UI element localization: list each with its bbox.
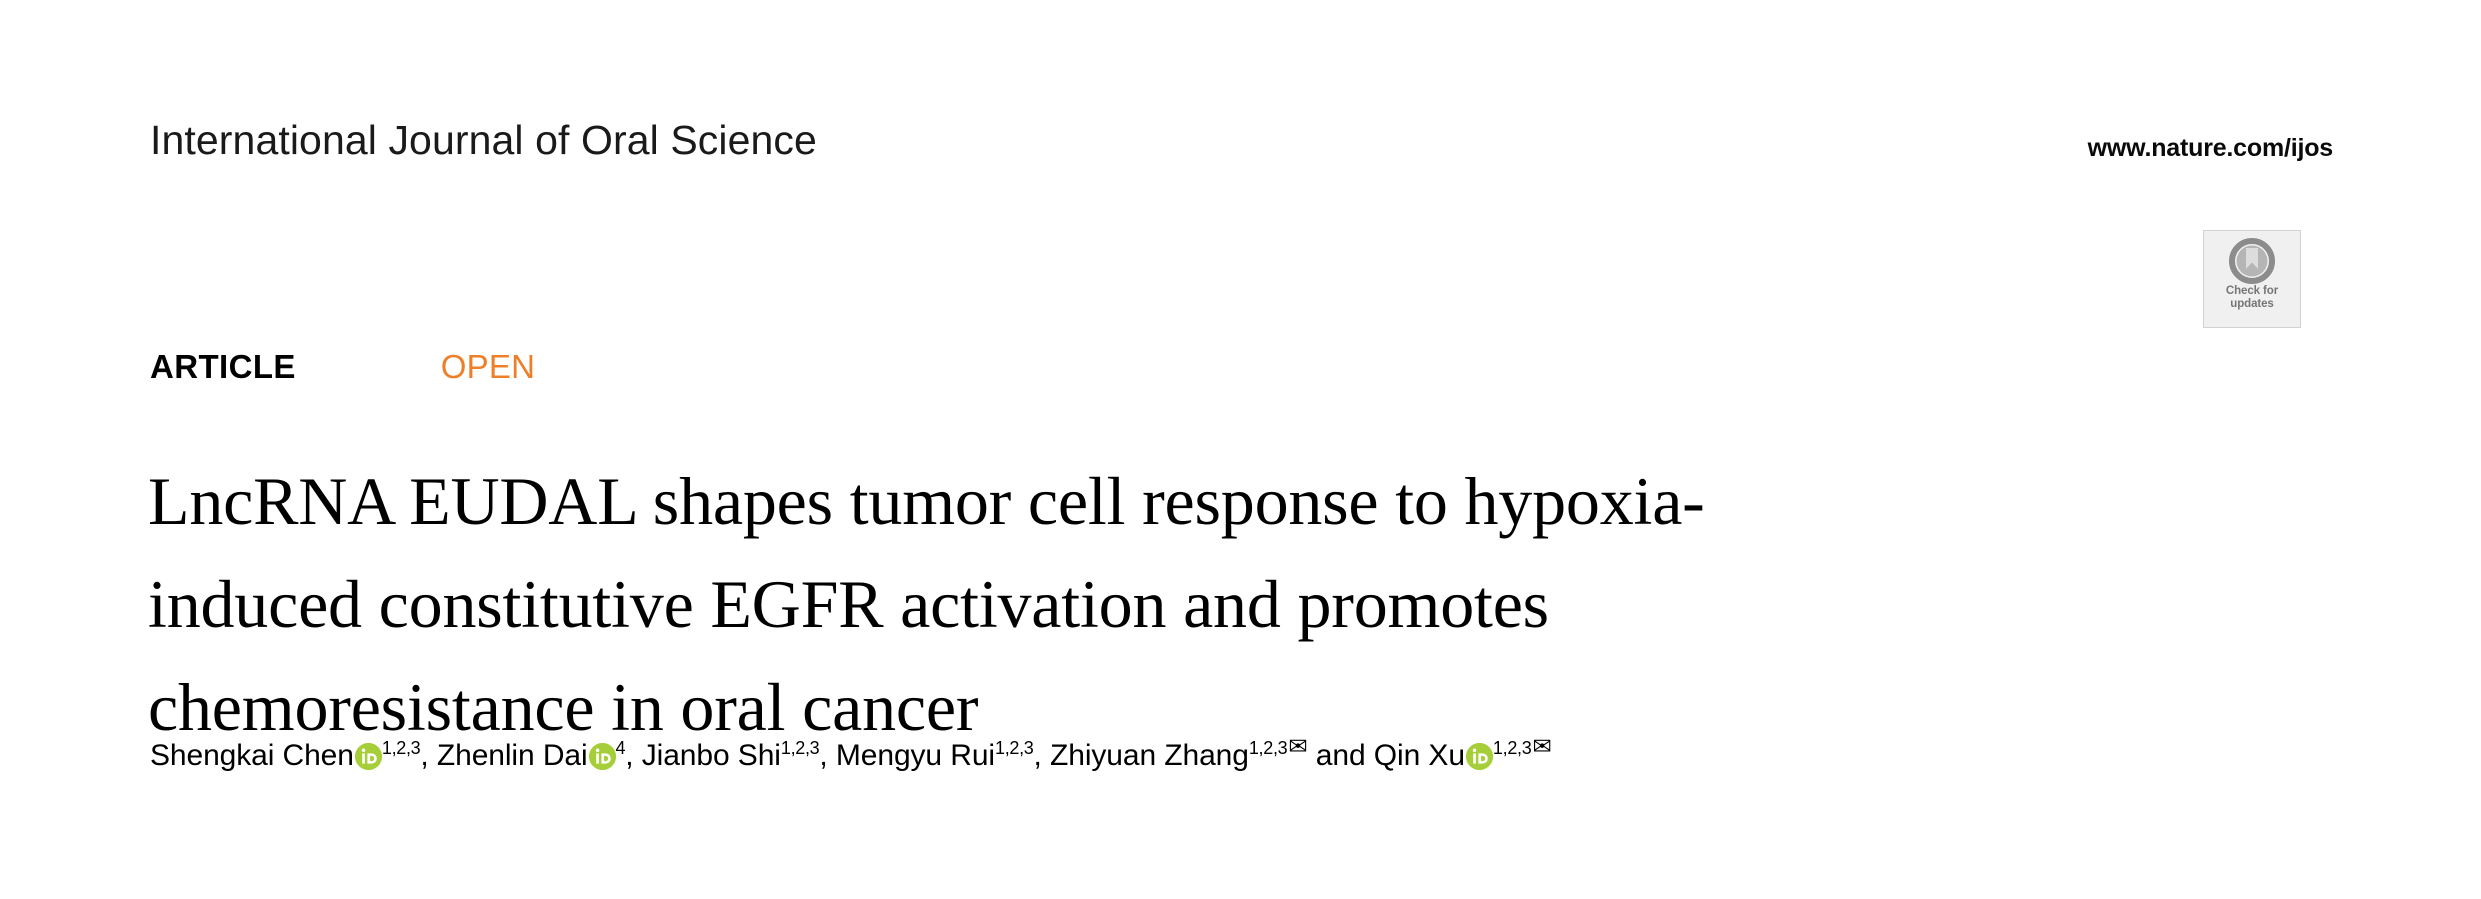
orcid-id-icon[interactable] <box>589 743 616 770</box>
author-separator: , <box>420 739 436 772</box>
article-type-row: ARTICLE OPEN <box>150 348 535 386</box>
orcid-id-icon[interactable] <box>1466 743 1493 770</box>
journal-url[interactable]: www.nature.com/ijos <box>2088 133 2333 163</box>
check-for-updates-line1: Check for <box>2226 285 2278 298</box>
author-separator: , <box>625 739 641 772</box>
article-title-line: LncRNA EUDAL shapes tumor cell response … <box>148 450 2238 553</box>
author-separator: and <box>1308 739 1374 772</box>
author-affiliation-marker: 1,2,3 <box>781 738 820 758</box>
author-affiliation-marker: 4 <box>616 738 626 758</box>
orcid-id-icon[interactable] <box>355 743 382 770</box>
author-affiliation-marker: 1,2,3 <box>1493 738 1532 758</box>
corresponding-author-envelope-icon[interactable]: ✉ <box>1532 733 1551 759</box>
check-for-updates-label: Check for updates <box>2226 285 2278 310</box>
crossmark-updates-icon <box>2229 238 2275 284</box>
author-name: Qin Xu <box>1374 739 1465 772</box>
author-name: Zhenlin Dai <box>437 739 588 772</box>
author-affiliation-marker: 1,2,3 <box>1249 738 1288 758</box>
check-for-updates-line2: updates <box>2226 298 2278 311</box>
author-name: Jianbo Shi <box>642 739 781 772</box>
author-name: Zhiyuan Zhang <box>1050 739 1249 772</box>
author-separator: , <box>1034 739 1050 772</box>
open-access-label: OPEN <box>441 348 535 386</box>
article-title: LncRNA EUDAL shapes tumor cell response … <box>148 450 2238 759</box>
author-affiliation-marker: 1,2,3 <box>995 738 1034 758</box>
check-for-updates-badge[interactable]: Check for updates <box>2203 230 2301 328</box>
journal-name: International Journal of Oral Science <box>150 116 817 164</box>
author-name: Shengkai Chen <box>150 739 354 772</box>
article-header-page: International Journal of Oral Science ww… <box>0 0 2481 899</box>
article-type-label: ARTICLE <box>150 348 296 386</box>
author-affiliation-marker: 1,2,3 <box>382 738 421 758</box>
author-byline: Shengkai Chen1,2,3, Zhenlin Dai4, Jianbo… <box>150 736 1552 776</box>
author-separator: , <box>819 739 835 772</box>
article-title-line: induced constitutive EGFR activation and… <box>148 553 2238 656</box>
corresponding-author-envelope-icon[interactable]: ✉ <box>1288 733 1307 759</box>
author-name: Mengyu Rui <box>836 739 995 772</box>
